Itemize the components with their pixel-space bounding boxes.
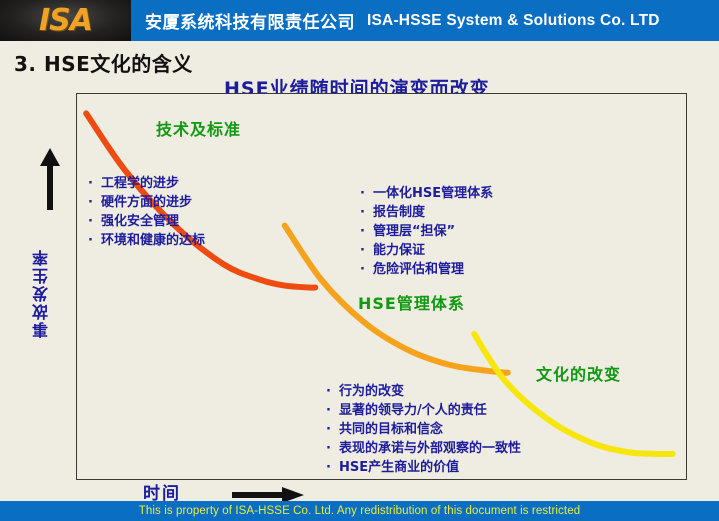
list-item-label: HSE产生商业的价值 xyxy=(339,460,459,475)
list-item: ·行为的改变 xyxy=(326,382,521,401)
list-item: ·环境和健康的达标 xyxy=(88,231,205,250)
bullet-dot-icon: · xyxy=(88,212,101,231)
list-item-label: 共同的目标和信念 xyxy=(339,422,443,437)
slide-canvas: ISA 安厦系统科技有限责任公司 ISA-HSSE System & Solut… xyxy=(0,0,719,521)
annotation-culture-change: 文化的改变 xyxy=(536,361,621,385)
list-item-label: 能力保证 xyxy=(373,243,425,258)
list-item: ·HSE产生商业的价值 xyxy=(326,458,521,477)
bullet-dot-icon: · xyxy=(360,260,373,279)
list-item: ·显著的领导力/个人的责任 xyxy=(326,401,521,420)
bullet-dot-icon: · xyxy=(326,458,339,477)
bullet-dot-icon: · xyxy=(326,401,339,420)
page-title: 3. HSE文化的含义 xyxy=(14,48,193,77)
bullet-dot-icon: · xyxy=(88,193,101,212)
list-item: ·表现的承诺与外部观察的一致性 xyxy=(326,439,521,458)
company-name-cn: 安厦系统科技有限责任公司 xyxy=(145,8,355,33)
bullet-dot-icon: · xyxy=(360,241,373,260)
list-item: ·强化安全管理 xyxy=(88,212,205,231)
bullet-dot-icon: · xyxy=(360,203,373,222)
header-title-bar: 安厦系统科技有限责任公司 ISA-HSSE System & Solutions… xyxy=(131,0,719,41)
list-item-label: 强化安全管理 xyxy=(101,214,179,229)
annotation-management-system: HSE管理体系 xyxy=(358,290,465,314)
list-item-label: 表现的承诺与外部观察的一致性 xyxy=(339,441,521,456)
bullet-list-technology: ·工程学的进步·硬件方面的进步·强化安全管理·环境和健康的达标 xyxy=(88,174,205,250)
slide-header: ISA 安厦系统科技有限责任公司 ISA-HSSE System & Solut… xyxy=(0,0,719,41)
slide-footer: This is property of ISA-HSSE Co. Ltd. An… xyxy=(0,501,719,521)
bullet-dot-icon: · xyxy=(326,439,339,458)
list-item-label: 行为的改变 xyxy=(339,384,404,399)
bullet-dot-icon: · xyxy=(360,184,373,203)
list-item: ·报告制度 xyxy=(360,203,493,222)
bullet-dot-icon: · xyxy=(360,222,373,241)
bullet-list-culture: ·行为的改变·显著的领导力/个人的责任·共同的目标和信念·表现的承诺与外部观察的… xyxy=(326,382,521,477)
list-item-label: 一体化HSE管理体系 xyxy=(373,186,493,201)
isa-logo-icon: ISA xyxy=(0,0,131,41)
list-item-label: 环境和健康的达标 xyxy=(101,233,205,248)
bullet-list-management-system: ·一体化HSE管理体系·报告制度·管理层“担保”·能力保证·危险评估和管理 xyxy=(360,184,493,279)
list-item: ·管理层“担保” xyxy=(360,222,493,241)
list-item: ·危险评估和管理 xyxy=(360,260,493,279)
list-item-label: 硬件方面的进步 xyxy=(101,195,192,210)
list-item-label: 危险评估和管理 xyxy=(373,262,464,277)
list-item: ·工程学的进步 xyxy=(88,174,205,193)
list-item: ·硬件方面的进步 xyxy=(88,193,205,212)
annotation-technology: 技术及标准 xyxy=(156,116,241,140)
list-item-label: 显著的领导力/个人的责任 xyxy=(339,403,487,418)
bullet-dot-icon: · xyxy=(326,382,339,401)
list-item: ·一体化HSE管理体系 xyxy=(360,184,493,203)
y-axis-arrow-icon xyxy=(39,148,61,210)
bullet-dot-icon: · xyxy=(88,174,101,193)
list-item-label: 报告制度 xyxy=(373,205,425,220)
bullet-dot-icon: · xyxy=(326,420,339,439)
list-item: ·共同的目标和信念 xyxy=(326,420,521,439)
list-item-label: 管理层“担保” xyxy=(373,224,455,239)
list-item-label: 工程学的进步 xyxy=(101,176,179,191)
company-name-en: ISA-HSSE System & Solutions Co. LTD xyxy=(367,12,660,30)
list-item: ·能力保证 xyxy=(360,241,493,260)
footer-text: This is property of ISA-HSSE Co. Ltd. An… xyxy=(139,505,580,517)
logo-panel: ISA xyxy=(0,0,131,41)
y-axis-label: 事故发生率 xyxy=(30,248,54,338)
bullet-dot-icon: · xyxy=(88,231,101,250)
